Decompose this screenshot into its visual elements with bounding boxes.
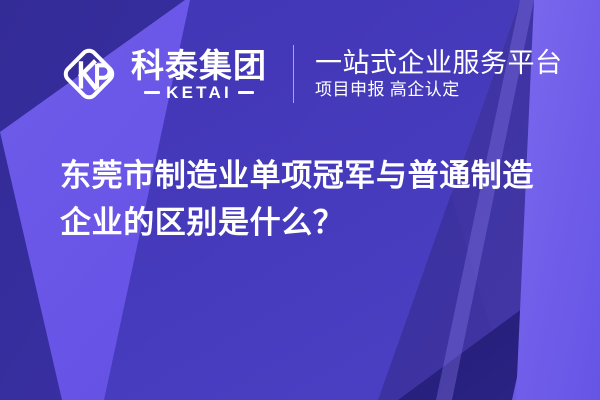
brand-wordmark: 科泰集团 KETAI: [131, 48, 267, 101]
header-divider: [293, 45, 294, 103]
kp-diamond-monogram-icon: [58, 43, 120, 105]
brand-rule-left: [144, 91, 160, 94]
brand-name-en: KETAI: [166, 84, 232, 101]
brand-logo[interactable]: 科泰集团 KETAI: [58, 43, 267, 105]
page-title: 东莞市制造业单项冠军与普通制造企业的区别是什么？: [60, 152, 560, 246]
tagline-sub: 项目申报 高企认定: [315, 81, 563, 99]
tagline-main: 一站式企业服务平台: [315, 49, 563, 77]
banner-content: 科泰集团 KETAI 一站式企业服务平台 项目申报 高企认定 东莞市制造业单项冠…: [0, 0, 600, 400]
banner-header: 科泰集团 KETAI 一站式企业服务平台 项目申报 高企认定: [58, 38, 563, 110]
brand-name-cn: 科泰集团: [131, 49, 267, 82]
brand-en-row: KETAI: [131, 84, 267, 101]
tagline-block: 一站式企业服务平台 项目申报 高企认定: [315, 49, 563, 99]
brand-rule-right: [238, 91, 254, 94]
banner-canvas: 科泰集团 KETAI 一站式企业服务平台 项目申报 高企认定 东莞市制造业单项冠…: [0, 0, 600, 400]
